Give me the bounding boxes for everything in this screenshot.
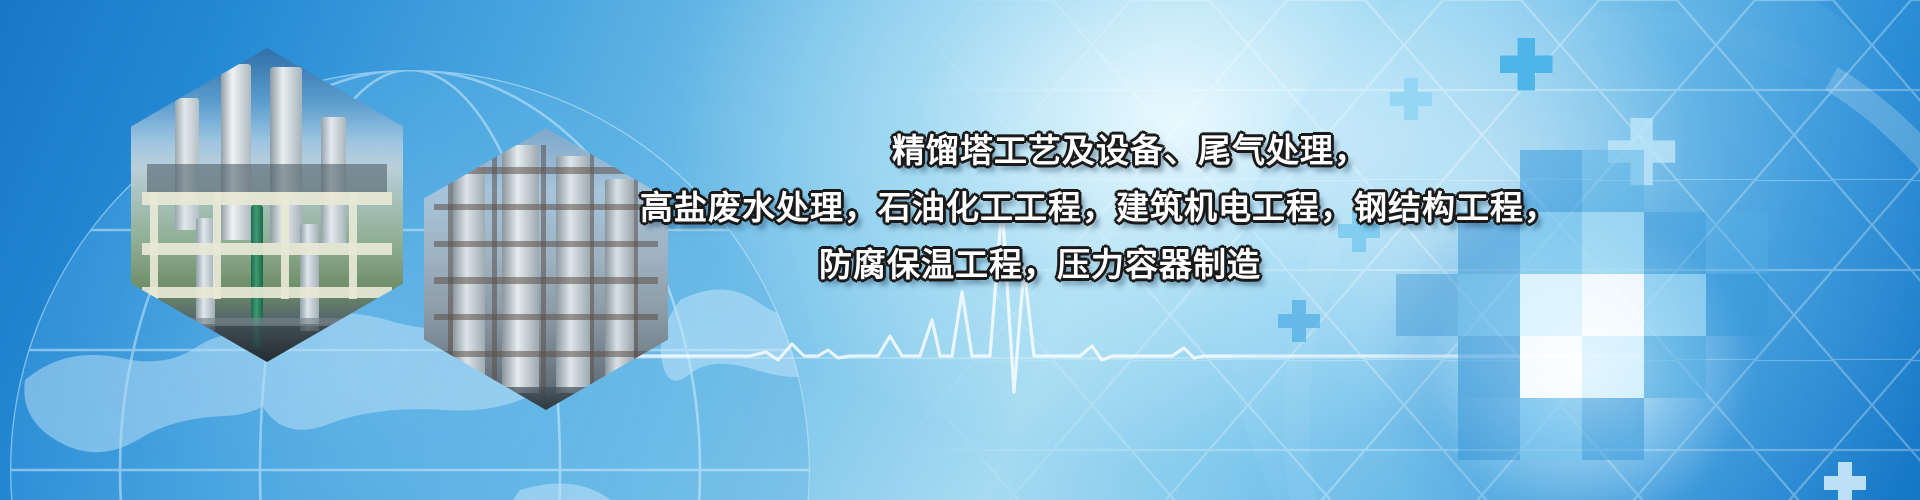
refinery-scaffolding-scene <box>424 128 668 410</box>
hexagon-photo-refinery-scaffolding <box>424 128 668 410</box>
hexagon-photo-distillation-plant <box>131 48 403 362</box>
headline-line-3: 防腐保温工程，压力容器制造 <box>640 236 1440 293</box>
banner-headline: 精馏塔工艺及设备、尾气处理， 高盐废水处理，石油化工工程，建筑机电工程，钢结构工… <box>640 122 1440 293</box>
headline-line-2: 高盐废水处理，石油化工工程，建筑机电工程，钢结构工程， <box>640 179 1440 236</box>
distillation-plant-scene <box>131 48 403 362</box>
hero-banner: 精馏塔工艺及设备、尾气处理， 高盐废水处理，石油化工工程，建筑机电工程，钢结构工… <box>0 0 1920 500</box>
headline-line-1: 精馏塔工艺及设备、尾气处理， <box>820 122 1440 179</box>
